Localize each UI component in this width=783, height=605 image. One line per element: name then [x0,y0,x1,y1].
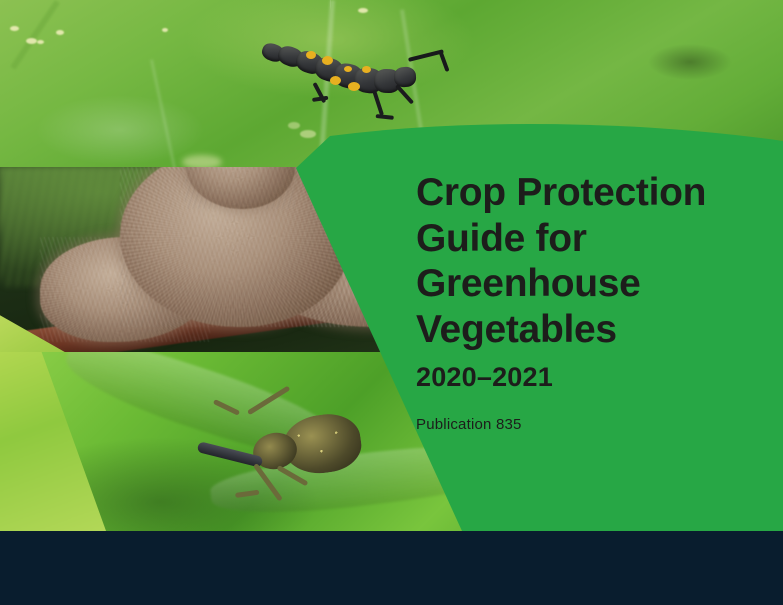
weevil [175,407,360,502]
leaf-speck [26,38,37,44]
page-title: Crop Protection Guide for Greenhouse Veg… [416,170,776,353]
publication-cover: Crop Protection Guide for Greenhouse Veg… [0,0,783,605]
leaf-speck [300,130,316,138]
cover-title-block: Crop Protection Guide for Greenhouse Veg… [416,170,776,433]
leaf-speck [56,30,64,35]
leaf-speck [182,155,222,167]
publication-number: Publication 835 [416,416,776,433]
leaf-speck [10,26,19,31]
leaf-speck [288,122,300,129]
leaf-speck [37,40,44,44]
leaf-speck [358,8,368,13]
edition-years: 2020–2021 [416,362,776,393]
cover-footer: Ministry of Agriculture, Food and Rural … [0,531,783,605]
leaf-speck [162,28,168,32]
ladybug-larva [258,20,418,110]
